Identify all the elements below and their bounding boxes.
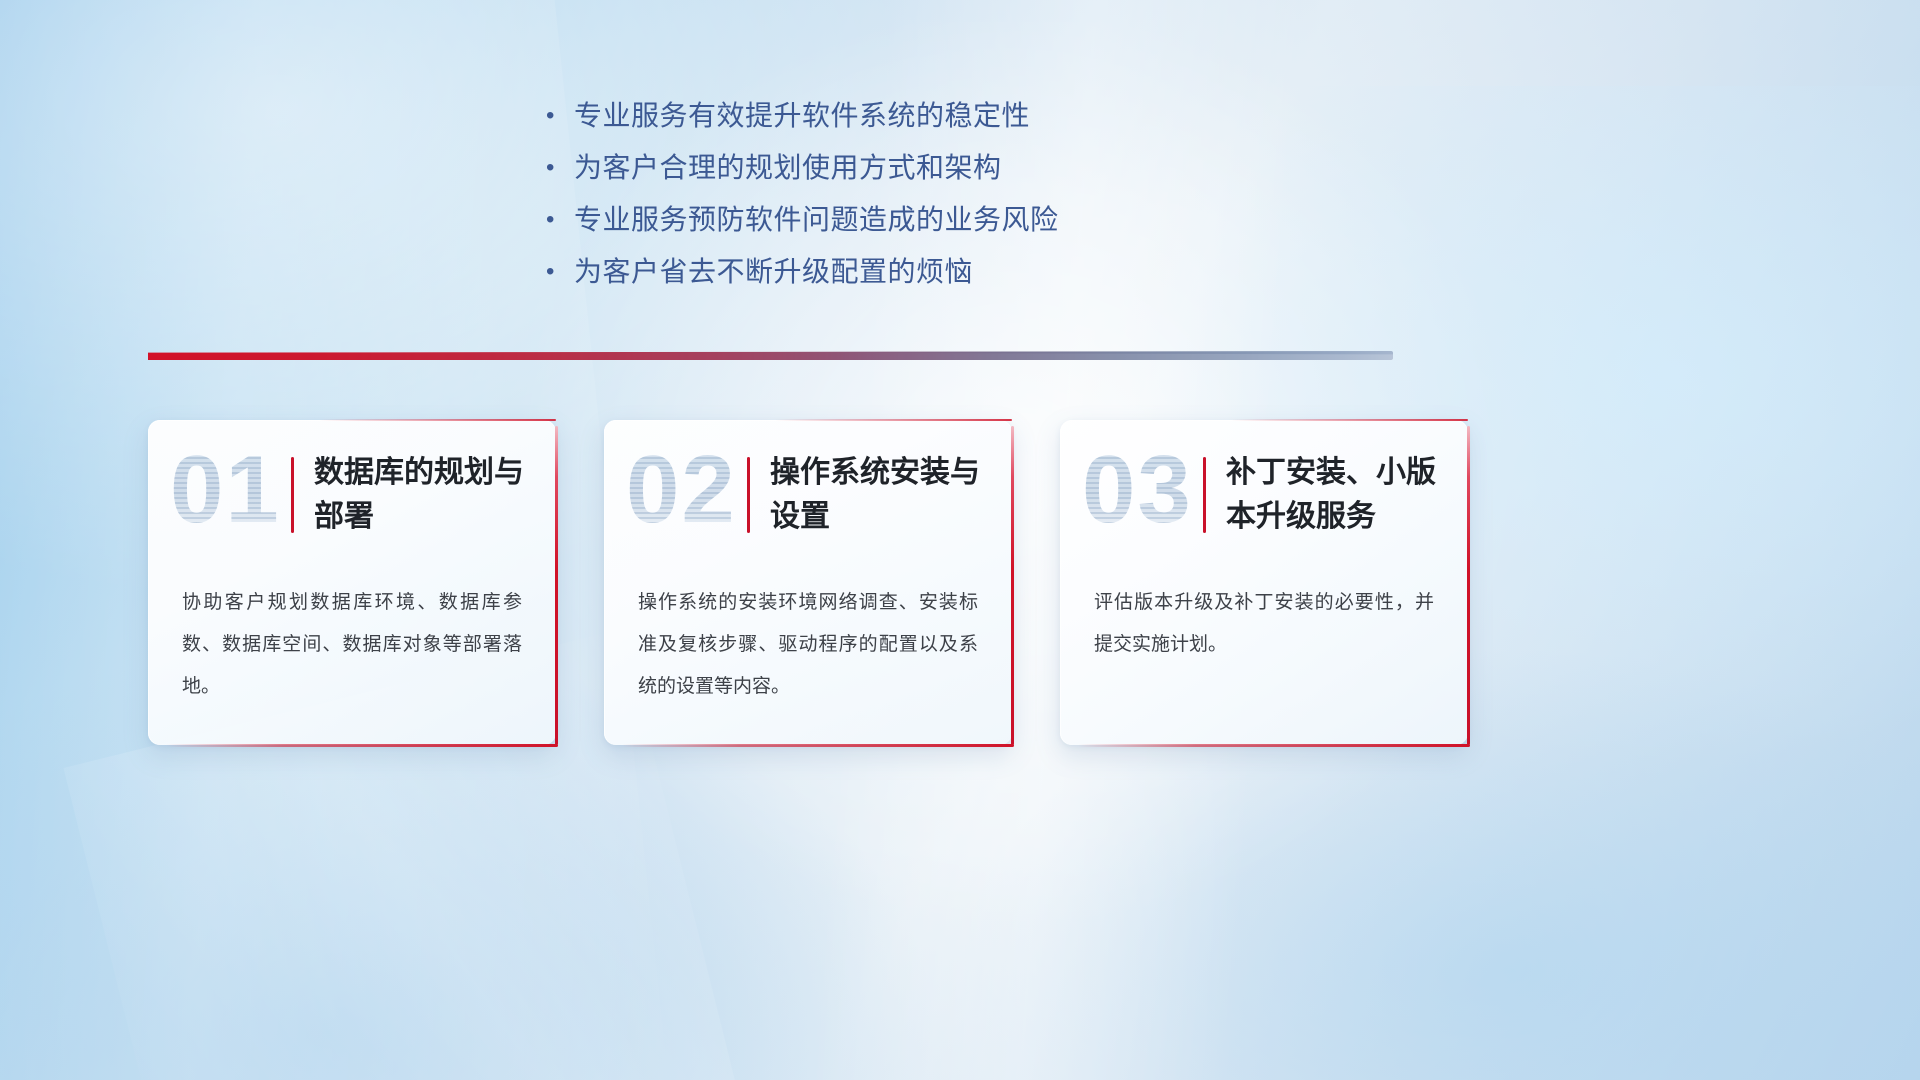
card-title: 操作系统安装与设置	[770, 451, 994, 539]
card-accent-bottom	[622, 744, 1014, 747]
card-number-watermark: 03	[1082, 442, 1193, 538]
bullet-item-label: 为客户合理的规划使用方式和架构	[574, 142, 1002, 194]
benefits-bullet-list: • 专业服务有效提升软件系统的稳定性 • 为客户合理的规划使用方式和架构 • 专…	[540, 90, 1180, 298]
card-title-block: 补丁安装、小版本升级服务	[1203, 451, 1450, 539]
card-body: 操作系统的安装环境网络调查、安装标准及复核步骤、驱动程序的配置以及系统的设置等内…	[604, 570, 1012, 708]
service-card[interactable]: 02 02 操作系统安装与设置 操作系统的安装环境网络调查、安装标准及复核步骤、…	[604, 420, 1012, 745]
list-item: • 为客户合理的规划使用方式和架构	[540, 142, 1180, 194]
list-item: • 专业服务有效提升软件系统的稳定性	[540, 90, 1180, 142]
service-card-group: 01 01 数据库的规划与部署 协助客户规划数据库环境、数据库参数、数据库空间、…	[148, 420, 1468, 750]
bullet-dot-icon: •	[540, 142, 574, 194]
service-card[interactable]: 03 03 补丁安装、小版本升级服务 评估版本升级及补丁安装的必要性，并提交实施…	[1060, 420, 1468, 745]
list-item: • 专业服务预防软件问题造成的业务风险	[540, 194, 1180, 246]
card-title-block: 操作系统安装与设置	[747, 451, 994, 539]
card-number-watermark: 01	[170, 442, 281, 538]
bullet-item-label: 为客户省去不断升级配置的烦恼	[574, 246, 973, 298]
bullet-dot-icon: •	[540, 194, 574, 246]
card-title-block: 数据库的规划与部署	[291, 451, 538, 539]
list-item: • 为客户省去不断升级配置的烦恼	[540, 246, 1180, 298]
card-title-accent-bar	[291, 457, 294, 533]
card-body: 评估版本升级及补丁安装的必要性，并提交实施计划。	[1060, 570, 1468, 666]
section-divider	[148, 348, 1393, 364]
card-description: 协助客户规划数据库环境、数据库参数、数据库空间、数据库对象等部署落地。	[182, 582, 522, 708]
card-accent-bottom	[166, 744, 558, 747]
slide-canvas: • 专业服务有效提升软件系统的稳定性 • 为客户合理的规划使用方式和架构 • 专…	[0, 0, 1920, 1080]
bullet-dot-icon: •	[540, 90, 574, 142]
card-header: 02 02 操作系统安装与设置	[604, 420, 1012, 570]
card-description: 评估版本升级及补丁安装的必要性，并提交实施计划。	[1094, 582, 1434, 666]
card-header: 03 03 补丁安装、小版本升级服务	[1060, 420, 1468, 570]
bullet-dot-icon: •	[540, 246, 574, 298]
bullet-item-label: 专业服务预防软件问题造成的业务风险	[574, 194, 1059, 246]
bullet-item-label: 专业服务有效提升软件系统的稳定性	[574, 90, 1030, 142]
card-title: 补丁安装、小版本升级服务	[1226, 451, 1450, 539]
card-number-watermark: 02	[626, 442, 737, 538]
card-description: 操作系统的安装环境网络调查、安装标准及复核步骤、驱动程序的配置以及系统的设置等内…	[638, 582, 978, 708]
card-header: 01 01 数据库的规划与部署	[148, 420, 556, 570]
card-title: 数据库的规划与部署	[314, 451, 538, 539]
card-accent-bottom	[1078, 744, 1470, 747]
card-title-accent-bar	[747, 457, 750, 533]
card-body: 协助客户规划数据库环境、数据库参数、数据库空间、数据库对象等部署落地。	[148, 570, 556, 708]
card-title-accent-bar	[1203, 457, 1206, 533]
service-card[interactable]: 01 01 数据库的规划与部署 协助客户规划数据库环境、数据库参数、数据库空间、…	[148, 420, 556, 745]
